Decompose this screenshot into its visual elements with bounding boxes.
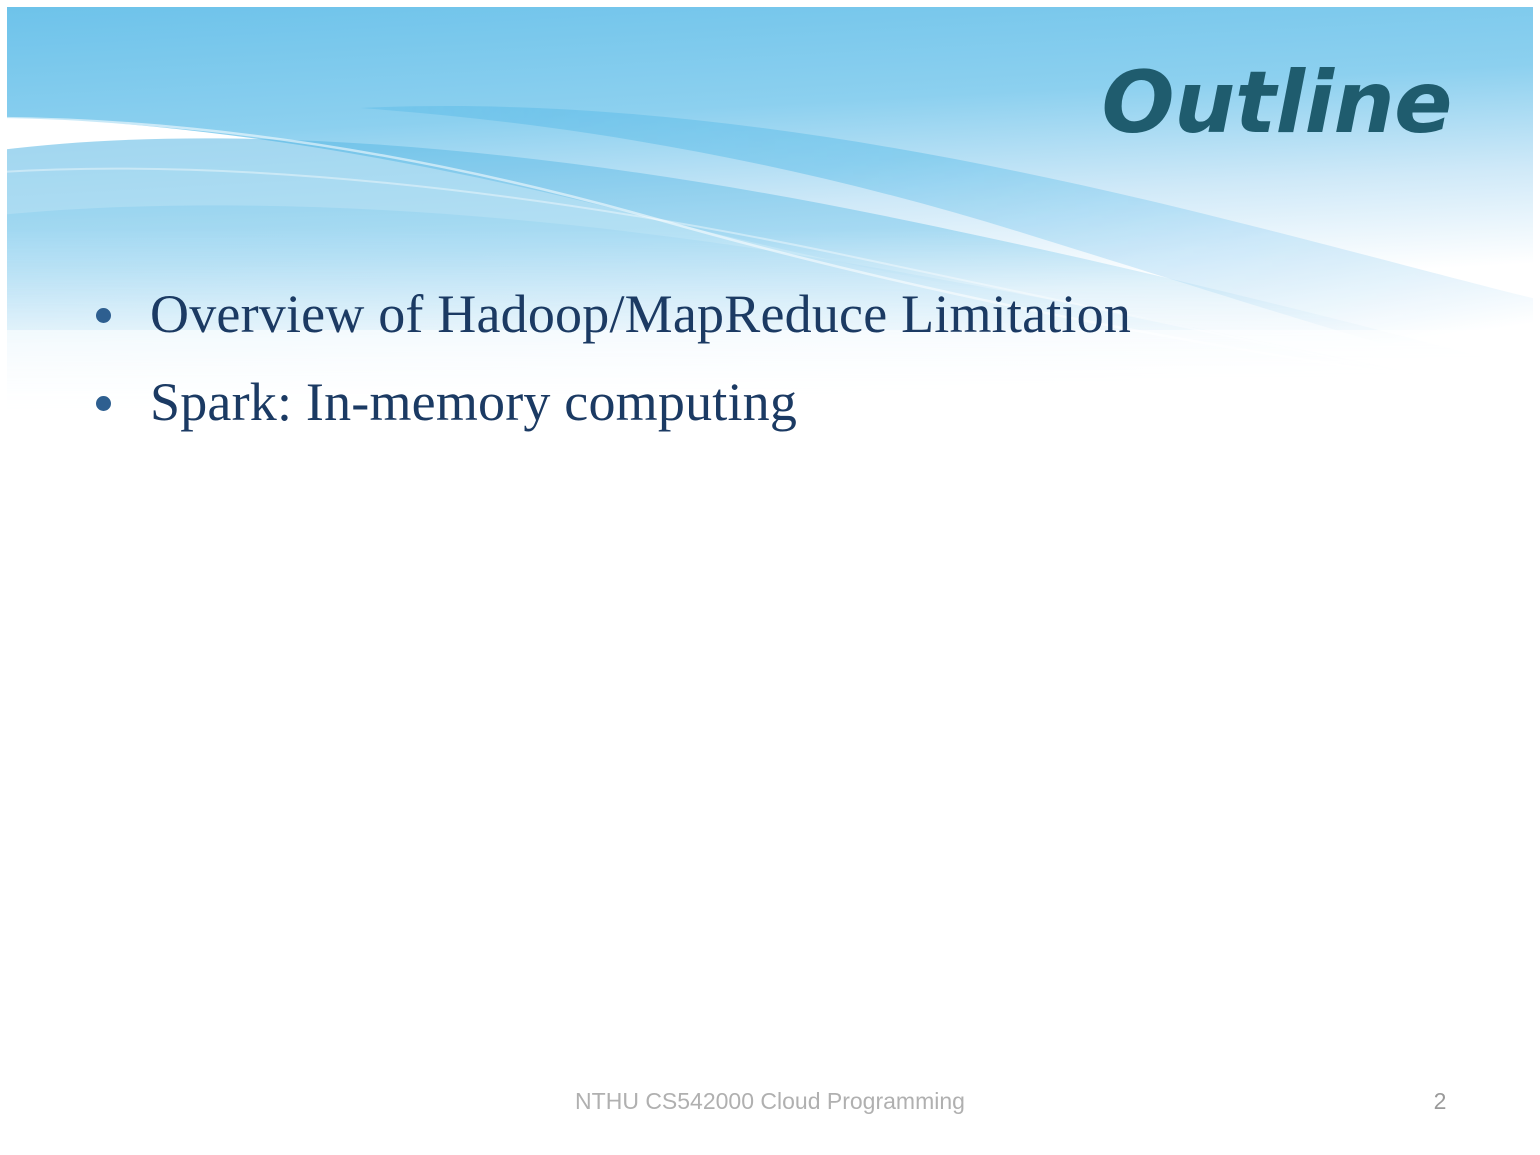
bullet-marker <box>84 370 150 411</box>
list-item[interactable]: Overview of Hadoop/MapReduce Limitation <box>84 282 1414 348</box>
title-block: Outline <box>1102 60 1452 146</box>
bullet-dot-icon <box>96 396 111 411</box>
presentation-slide: Outline Overview of Hadoop/MapReduce Lim… <box>0 0 1540 1155</box>
bullet-dot-icon <box>96 308 111 323</box>
page-title: Outline <box>1102 60 1452 146</box>
list-item-label: Spark: In-memory computing <box>150 370 797 436</box>
slide-footer: NTHU CS542000 Cloud Programming <box>0 1088 1540 1115</box>
bullet-marker <box>84 282 150 323</box>
bullet-list: Overview of Hadoop/MapReduce Limitation … <box>84 282 1414 458</box>
list-item[interactable]: Spark: In-memory computing <box>84 370 1414 436</box>
list-item-label: Overview of Hadoop/MapReduce Limitation <box>150 282 1131 348</box>
page-number: 2 <box>1415 1088 1465 1115</box>
